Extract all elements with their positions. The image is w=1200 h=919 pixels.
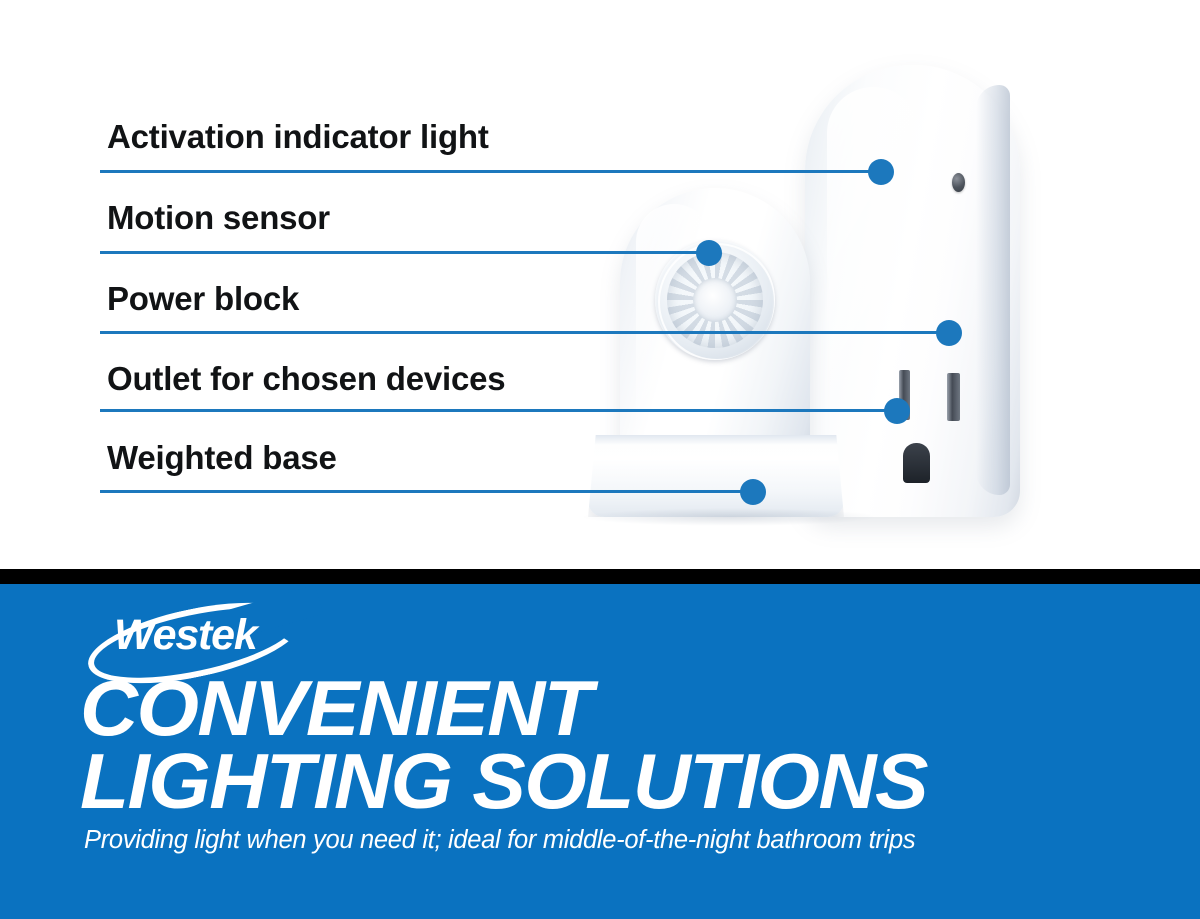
leader-dot-outlet-for-chosen-devices (884, 398, 910, 424)
headline-line-1: CONVENIENT (80, 672, 1172, 745)
callout-activation-indicator-light: Activation indicator light (100, 120, 489, 153)
callout-outlet-for-chosen-devices: Outlet for chosen devices (100, 362, 505, 395)
leader-dot-weighted-base (740, 479, 766, 505)
leader-dot-activation-indicator-light (868, 159, 894, 185)
banner-tagline: Providing light when you need it; ideal … (84, 828, 1154, 854)
leader-line-motion-sensor (100, 251, 708, 254)
callout-label: Power block (107, 282, 299, 315)
callout-label: Outlet for chosen devices (107, 362, 505, 395)
diagram-panel: Activation indicator light Motion sensor… (0, 0, 1200, 569)
leader-line-weighted-base (100, 490, 752, 493)
headline-line-2: LIGHTING SOLUTIONS (80, 745, 1172, 818)
brand-banner: Westek CONVENIENT LIGHTING SOLUTIONS Pro… (0, 584, 1200, 919)
leader-line-activation-indicator-light (100, 170, 880, 173)
westek-logo: Westek (86, 607, 321, 669)
callout-power-block: Power block (100, 282, 299, 315)
leader-line-outlet-for-chosen-devices (100, 409, 896, 412)
callout-label: Activation indicator light (107, 120, 489, 153)
callout-list: Activation indicator light Motion sensor… (0, 0, 1200, 569)
leader-dot-power-block (936, 320, 962, 346)
product-feature-graphic: Activation indicator light Motion sensor… (0, 0, 1200, 919)
callout-motion-sensor: Motion sensor (100, 201, 330, 234)
callout-label: Motion sensor (107, 201, 330, 234)
banner-headline: CONVENIENT LIGHTING SOLUTIONS (80, 672, 1140, 817)
callout-weighted-base: Weighted base (100, 441, 337, 474)
logo-wordmark: Westek (114, 614, 257, 657)
section-divider (0, 569, 1200, 584)
leader-line-power-block (100, 331, 948, 334)
callout-label: Weighted base (107, 441, 337, 474)
leader-dot-motion-sensor (696, 240, 722, 266)
